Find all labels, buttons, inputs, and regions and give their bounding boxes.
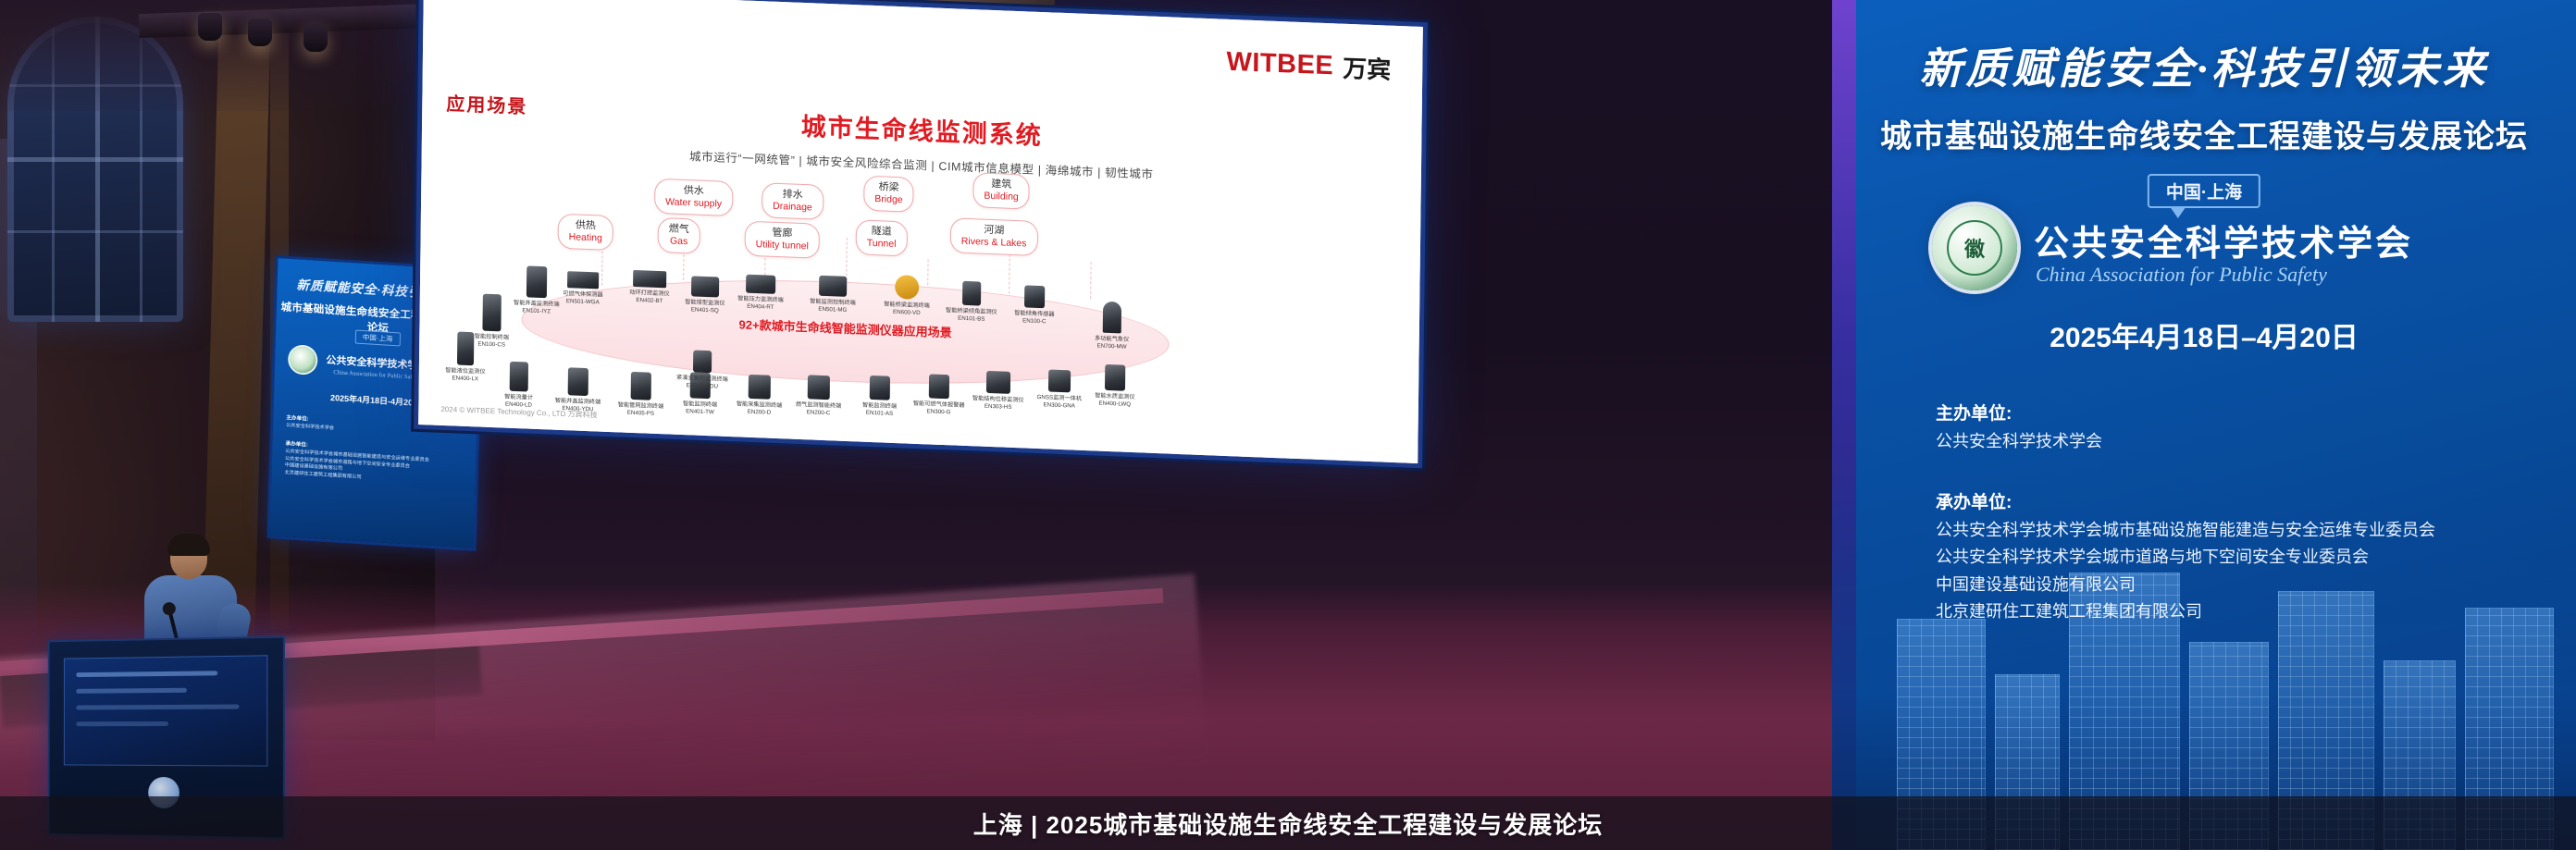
association-seal-icon: 徽 bbox=[1932, 205, 2017, 290]
device-code: EN101-AS bbox=[847, 409, 913, 418]
host-label: 主办单位: bbox=[1936, 400, 2539, 425]
brand-name-en: WITBEE bbox=[1226, 47, 1333, 82]
device-item[interactable]: 智能管网监测终端 EN405-PS bbox=[607, 371, 675, 418]
category-cn: 桥梁 bbox=[874, 181, 903, 194]
witbee-logo: WITBEE 万宾 bbox=[1226, 45, 1391, 86]
screenshot-root: 新质赋能安全·科技引领未来 城市基础设施生命线安全工程建设与发展论坛 中国·上海… bbox=[0, 0, 2576, 850]
device-item[interactable]: 智能水质监测仪 EN400-LWQ bbox=[1082, 363, 1149, 409]
spotlight-icon bbox=[198, 13, 222, 41]
seal-glyph: 徽 bbox=[1947, 220, 2002, 276]
host-value: 公共安全科学技术学会 bbox=[1936, 430, 2539, 452]
category-pill-tunnel[interactable]: 隧道 Tunnel bbox=[856, 219, 908, 256]
poster-organizer-3: 北京建研住工建筑工程集团有限公司 bbox=[284, 470, 361, 480]
category-pill-bridge[interactable]: 桥梁 Bridge bbox=[863, 176, 914, 213]
category-en: Drainage bbox=[773, 200, 812, 213]
panel-slogan: 新质赋能安全·科技引领未来 bbox=[1832, 35, 2576, 96]
device-item[interactable]: 燃气监测智能终端 EN200-C bbox=[785, 374, 852, 417]
category-en: Tunnel bbox=[867, 237, 897, 249]
device-item[interactable]: 智能桥梁倾角监测仪 EN101-BS bbox=[938, 280, 1006, 324]
presentation-slide: WITBEE 万宾 应用场景 城市生命线监测系统 城市运行“一网统管” | 城市… bbox=[418, 0, 1423, 463]
device-item[interactable]: 智能井盖监测终端 EN400-YDU bbox=[544, 366, 612, 413]
panel-organization-en: China Association for Public Safety bbox=[2036, 263, 2327, 287]
category-pill-utility-tunnel[interactable]: 管廊 Utility tunnel bbox=[745, 221, 821, 259]
organizer-item: 中国建设基础设施有限公司 bbox=[1936, 573, 2539, 596]
category-en: Rivers & Lakes bbox=[961, 235, 1027, 249]
device-code: EN200-D bbox=[725, 408, 792, 417]
device-item[interactable]: 智能压力监测终端 EN404-RT bbox=[727, 274, 794, 312]
category-en: Gas bbox=[669, 235, 689, 247]
organizer-item: 北京建研住工建筑工程集团有限公司 bbox=[1936, 600, 2539, 622]
organizer-item: 公共安全科学技术学会城市道路与地下空间安全专业委员会 bbox=[1936, 546, 2539, 568]
category-cn: 燃气 bbox=[669, 223, 689, 235]
device-code: EN401-TW bbox=[666, 407, 733, 416]
category-en: Heating bbox=[569, 231, 602, 243]
category-pill-gas[interactable]: 燃气 Gas bbox=[658, 217, 700, 253]
panel-organizer-section: 承办单位: 公共安全科学技术学会城市基础设施智能建造与安全运维专业委员会 公共安… bbox=[1936, 488, 2539, 627]
device-code: EN405-PS bbox=[607, 409, 674, 418]
poster-host-value: 公共安全科学技术学会 bbox=[286, 423, 334, 431]
device-item[interactable]: 智能倾角传感器 EN100-C bbox=[1001, 284, 1069, 326]
device-item[interactable]: 紧凑式管网监测终端 EN202-RDU bbox=[669, 349, 737, 390]
organizer-item: 公共安全科学技术学会城市基础设施智能建造与安全运维专业委员会 bbox=[1936, 519, 2539, 541]
poster-host-label: 主办单位: bbox=[286, 415, 308, 423]
panel-host-section: 主办单位: 公共安全科学技术学会 bbox=[1936, 400, 2539, 457]
right-conference-panel: 新质赋能安全·科技引领未来 城市基础设施生命线安全工程建设与发展论坛 中国·上海… bbox=[1832, 0, 2576, 850]
bottom-caption-bar: 上海 | 2025城市基础设施生命线安全工程建设与发展论坛 bbox=[0, 796, 2576, 850]
device-item[interactable]: 可燃气体探测器 EN501-WGA bbox=[550, 270, 616, 306]
spotlight-icon bbox=[248, 18, 272, 46]
device-item[interactable]: 多功能气象仪 EN700-MW bbox=[1078, 301, 1146, 351]
device-item[interactable]: 智能采集监测终端 EN200-D bbox=[725, 374, 793, 417]
panel-date: 2025年4月18日–4月20日 bbox=[1832, 314, 2576, 355]
panel-title: 城市基础设施生命线安全工程建设与发展论坛 bbox=[1832, 111, 2576, 156]
device-item[interactable]: 智能结构位移监测仪 EN303-HS bbox=[965, 370, 1033, 412]
category-en: Water supply bbox=[665, 196, 722, 209]
category-en: Utility tunnel bbox=[756, 239, 809, 252]
category-pill-rivers-lakes[interactable]: 河湖 Rivers & Lakes bbox=[950, 217, 1038, 255]
spotlight-icon bbox=[303, 24, 328, 52]
lectern-display bbox=[64, 655, 267, 766]
device-item[interactable]: 智能监测控制终端 EN501-MG bbox=[799, 275, 866, 314]
category-pill-building[interactable]: 建筑 Building bbox=[972, 172, 1030, 209]
panel-location-badge: 中国·上海 bbox=[2148, 174, 2260, 208]
caption-text: 上海 | 2025城市基础设施生命线安全工程建设与发展论坛 bbox=[973, 807, 1604, 841]
category-pill-water-supply[interactable]: 供水 Water supply bbox=[654, 179, 733, 216]
category-pill-drainage[interactable]: 排水 Drainage bbox=[762, 182, 824, 219]
device-item[interactable]: 智能桥梁监测终端 EN600-VD bbox=[873, 274, 941, 317]
device-code: EN200-C bbox=[785, 408, 851, 417]
device-item[interactable]: 智能流量计 EN400-LD bbox=[485, 361, 552, 410]
main-led-screen: WITBEE 万宾 应用场景 城市生命线监测系统 城市运行“一网统管” | 城市… bbox=[418, 0, 1423, 463]
poster-location: 中国·上海 bbox=[355, 329, 401, 346]
category-pill-heating[interactable]: 供热 Heating bbox=[558, 214, 614, 251]
poster-organizer-label: 承办单位: bbox=[285, 441, 307, 449]
category-en: Bridge bbox=[874, 193, 903, 205]
panel-organization: 公共安全科学技术学会 bbox=[2034, 215, 2413, 265]
category-cn: 隧道 bbox=[867, 226, 897, 239]
category-en: Building bbox=[984, 190, 1019, 203]
presenter-hair bbox=[167, 534, 210, 556]
brand-name-cn: 万宾 bbox=[1343, 50, 1391, 86]
device-item[interactable]: 智能可燃气体报警器 EN300-G bbox=[906, 373, 973, 416]
organizer-label: 承办单位: bbox=[1936, 488, 2539, 513]
device-item[interactable]: 智能监测终端 EN101-AS bbox=[847, 375, 914, 418]
